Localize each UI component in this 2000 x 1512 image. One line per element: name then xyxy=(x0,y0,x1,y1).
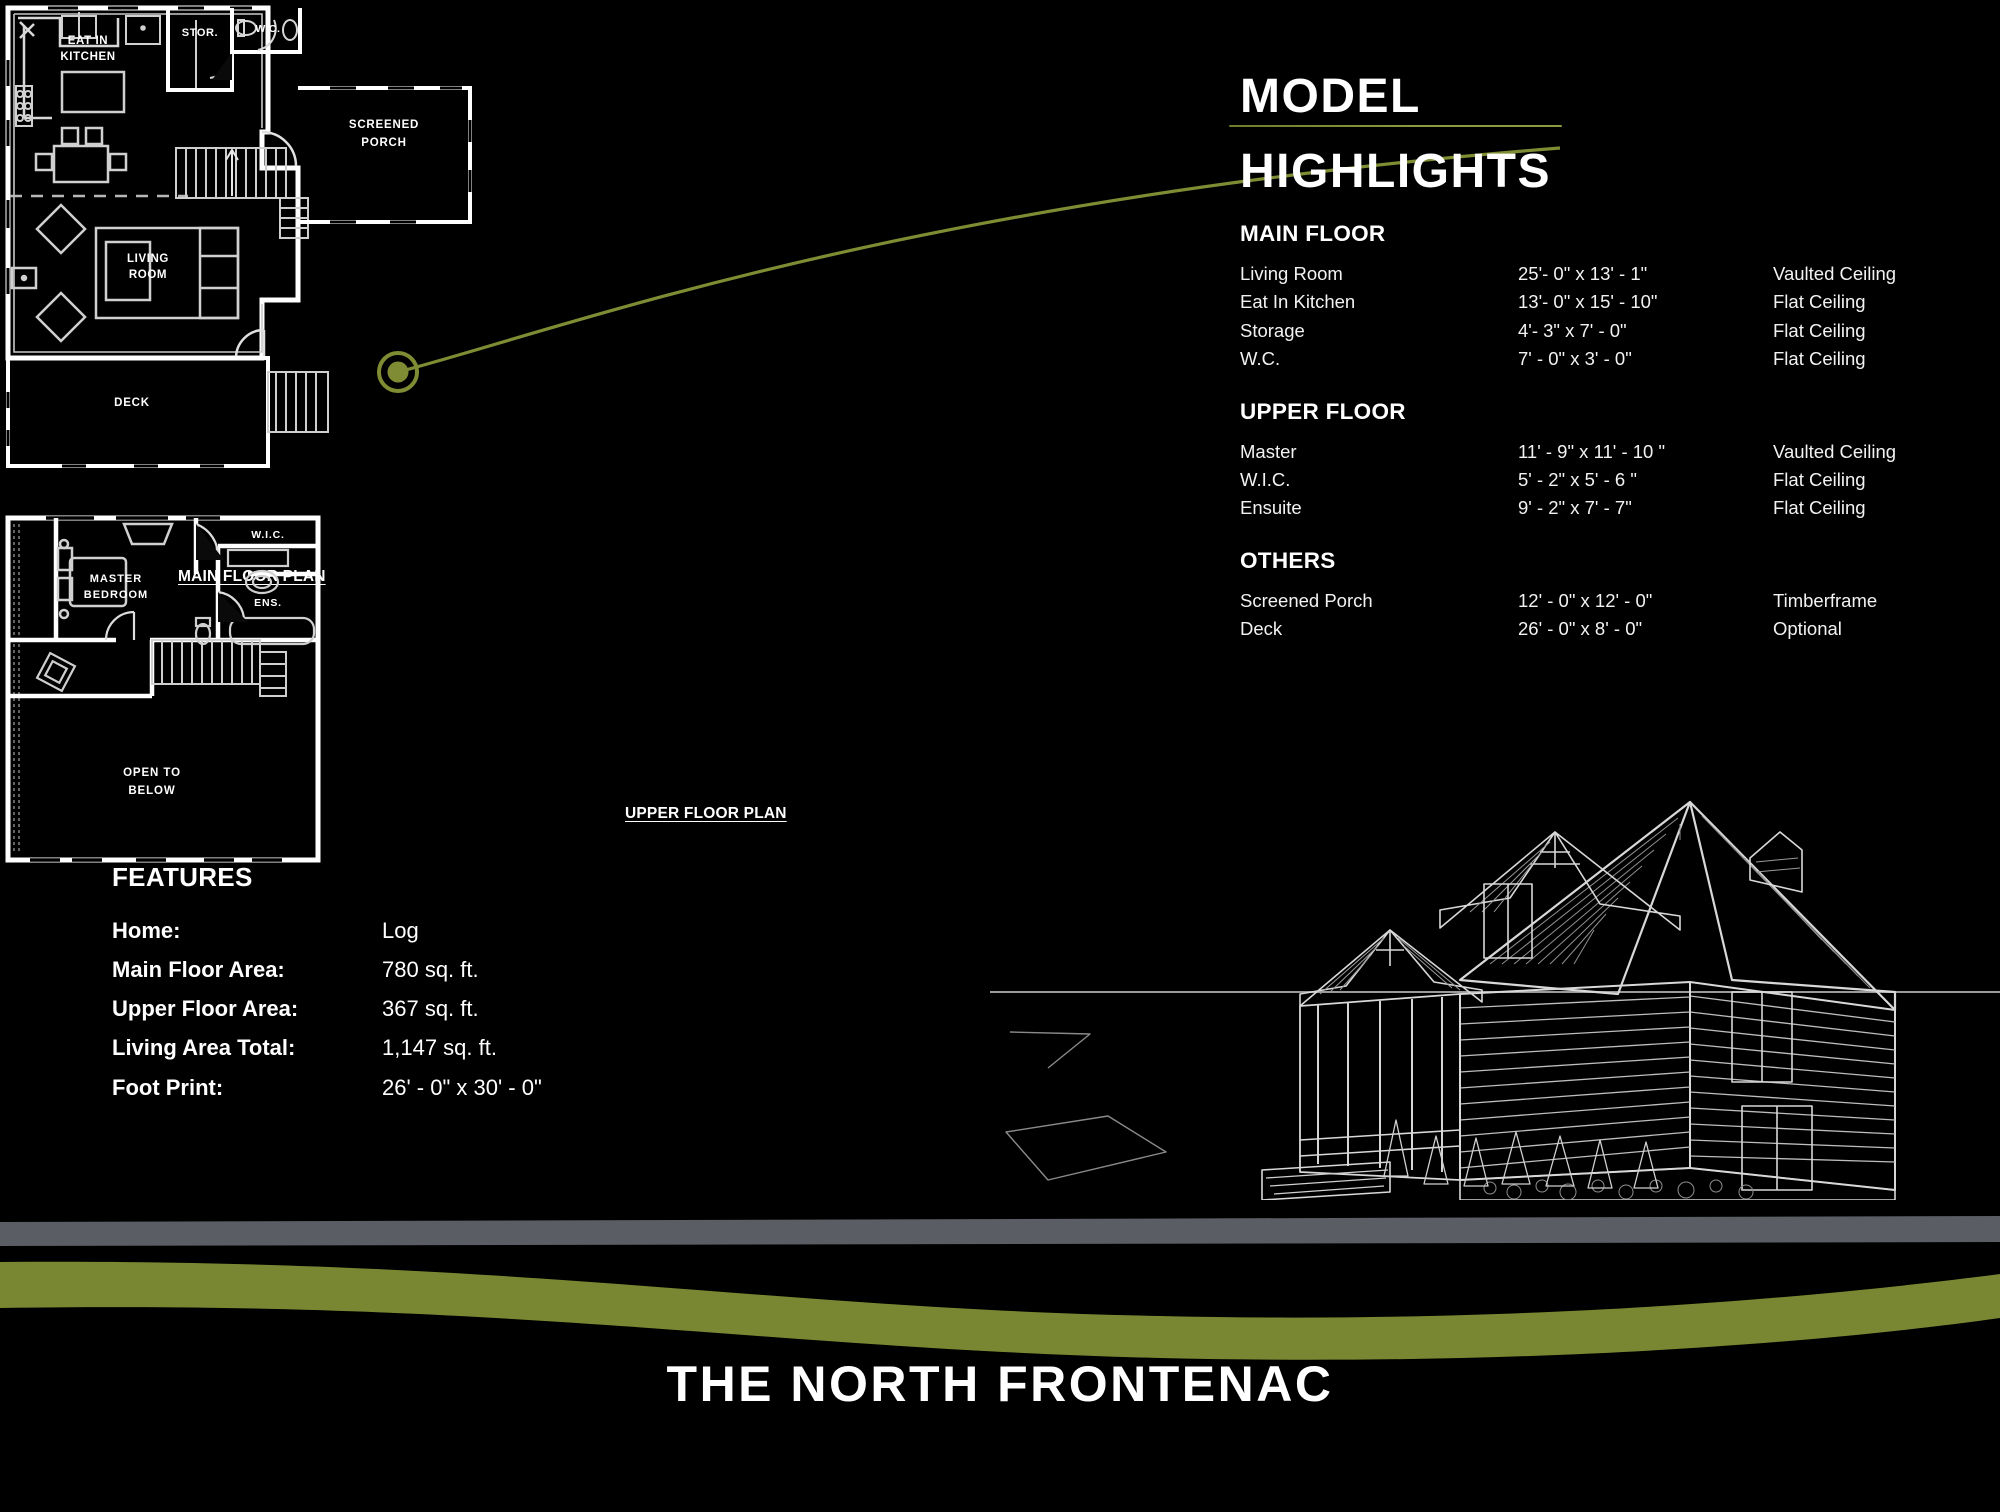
features-panel: FEATURES Home: Log Main Floor Area: 780 … xyxy=(112,862,732,1107)
room-note: Flat Ceiling xyxy=(1773,494,1980,522)
room-dimensions: 26' - 0" x 8' - 0" xyxy=(1518,615,1773,643)
list-item: Living Area Total: 1,147 sq. ft. xyxy=(112,1028,732,1067)
room-name: Master xyxy=(1240,438,1518,466)
green-swoosh-band xyxy=(0,1262,2000,1360)
house-rendering-illustration xyxy=(990,780,2000,1200)
label-storage: STOR. xyxy=(182,27,218,39)
room-name: W.I.C. xyxy=(1240,466,1518,494)
section-title-others: OTHERS xyxy=(1240,548,1980,574)
room-note: Flat Ceiling xyxy=(1773,345,1980,373)
label-deck: DECK xyxy=(114,397,150,409)
highlights-section-upper-floor: UPPER FLOOR Master 11' - 9" x 11' - 10 "… xyxy=(1240,399,1980,522)
room-note: Flat Ceiling xyxy=(1773,466,1980,494)
label-open-to-below-2: BELOW xyxy=(128,785,175,797)
page-title: THE NORTH FRONTENAC xyxy=(0,1355,2000,1413)
features-title: FEATURES xyxy=(112,862,732,893)
label-screened-porch-2: PORCH xyxy=(361,137,407,149)
table-row: Master 11' - 9" x 11' - 10 " Vaulted Cei… xyxy=(1240,438,1980,466)
label-master-2: BEDROOM xyxy=(84,589,148,601)
feature-value: 780 sq. ft. xyxy=(382,950,732,989)
feature-value: Log xyxy=(382,911,732,950)
feature-label: Foot Print: xyxy=(112,1068,382,1107)
feature-label: Home: xyxy=(112,911,382,950)
main-floor-plan-drawing: EAT IN KITCHEN STOR. W.C. SCREENED PORCH… xyxy=(0,0,500,510)
room-name: Ensuite xyxy=(1240,494,1518,522)
label-wic: W.I.C. xyxy=(251,529,284,541)
feature-value: 26' - 0" x 30' - 0" xyxy=(382,1068,732,1107)
label-wc: W.C. xyxy=(255,23,280,35)
label-eat-in-kitchen-1: EAT IN xyxy=(68,35,108,47)
list-item: Foot Print: 26' - 0" x 30' - 0" xyxy=(112,1068,732,1107)
list-item: Main Floor Area: 780 sq. ft. xyxy=(112,950,732,989)
upper-floor-plan: MASTER BEDROOM W.I.C. ENS. OPEN TO BELOW xyxy=(0,510,350,920)
footer-decorative-bands xyxy=(0,1196,2000,1376)
room-name: Storage xyxy=(1240,317,1518,345)
room-dimensions: 5' - 2" x 5' - 6 " xyxy=(1518,466,1773,494)
room-dimensions: 25'- 0" x 13' - 1" xyxy=(1518,260,1773,288)
upper-floor-plan-drawing: MASTER BEDROOM W.I.C. ENS. OPEN TO BELOW xyxy=(0,510,350,920)
label-open-to-below-1: OPEN TO xyxy=(123,767,181,779)
room-name: Deck xyxy=(1240,615,1518,643)
room-note: Timberframe xyxy=(1773,587,1980,615)
label-eat-in-kitchen-2: KITCHEN xyxy=(60,51,115,63)
section-title-main-floor: MAIN FLOOR xyxy=(1240,221,1980,247)
room-dimensions: 11' - 9" x 11' - 10 " xyxy=(1518,438,1773,466)
upper-floor-plan-caption: UPPER FLOOR PLAN xyxy=(625,805,787,823)
room-dimensions: 4'- 3" x 7' - 0" xyxy=(1518,317,1773,345)
feature-label: Main Floor Area: xyxy=(112,950,382,989)
model-highlights-title-line1: MODEL xyxy=(1240,72,1980,122)
label-master-1: MASTER xyxy=(90,573,142,585)
room-note: Vaulted Ceiling xyxy=(1773,260,1980,288)
room-note: Flat Ceiling xyxy=(1773,288,1980,316)
room-name: Screened Porch xyxy=(1240,587,1518,615)
label-living-room-1: LIVING xyxy=(127,253,169,265)
model-highlights-title-line2: HIGHLIGHTS xyxy=(1240,147,1980,197)
gray-band xyxy=(0,1216,2000,1246)
list-item: Home: Log xyxy=(112,911,732,950)
table-row: W.I.C. 5' - 2" x 5' - 6 " Flat Ceiling xyxy=(1240,466,1980,494)
room-note: Vaulted Ceiling xyxy=(1773,438,1980,466)
highlights-section-others: OTHERS Screened Porch 12' - 0" x 12' - 0… xyxy=(1240,548,1980,643)
room-note: Flat Ceiling xyxy=(1773,317,1980,345)
room-name: Living Room xyxy=(1240,260,1518,288)
room-dimensions: 7' - 0" x 3' - 0" xyxy=(1518,345,1773,373)
feature-value: 367 sq. ft. xyxy=(382,989,732,1028)
table-row: Storage 4'- 3" x 7' - 0" Flat Ceiling xyxy=(1240,317,1980,345)
main-floor-plan: EAT IN KITCHEN STOR. W.C. SCREENED PORCH… xyxy=(0,0,500,510)
room-dimensions: 9' - 2" x 7' - 7" xyxy=(1518,494,1773,522)
table-row: Deck 26' - 0" x 8' - 0" Optional xyxy=(1240,615,1980,643)
table-row: W.C. 7' - 0" x 3' - 0" Flat Ceiling xyxy=(1240,345,1980,373)
brochure-page: EAT IN KITCHEN STOR. W.C. SCREENED PORCH… xyxy=(0,0,2000,1512)
table-row: Screened Porch 12' - 0" x 12' - 0" Timbe… xyxy=(1240,587,1980,615)
room-dimensions: 13'- 0" x 15' - 10" xyxy=(1518,288,1773,316)
label-living-room-2: ROOM xyxy=(129,269,167,281)
feature-label: Living Area Total: xyxy=(112,1028,382,1067)
feature-label: Upper Floor Area: xyxy=(112,989,382,1028)
label-screened-porch-1: SCREENED xyxy=(349,119,419,131)
highlights-section-main-floor: MAIN FLOOR Living Room 25'- 0" x 13' - 1… xyxy=(1240,221,1980,372)
table-row: Eat In Kitchen 13'- 0" x 15' - 10" Flat … xyxy=(1240,288,1980,316)
table-row: Ensuite 9' - 2" x 7' - 7" Flat Ceiling xyxy=(1240,494,1980,522)
list-item: Upper Floor Area: 367 sq. ft. xyxy=(112,989,732,1028)
table-row: Living Room 25'- 0" x 13' - 1" Vaulted C… xyxy=(1240,260,1980,288)
model-highlights-panel: MODEL HIGHLIGHTS MAIN FLOOR Living Room … xyxy=(1240,72,1980,643)
section-title-upper-floor: UPPER FLOOR xyxy=(1240,399,1980,425)
room-name: W.C. xyxy=(1240,345,1518,373)
room-dimensions: 12' - 0" x 12' - 0" xyxy=(1518,587,1773,615)
feature-value: 1,147 sq. ft. xyxy=(382,1028,732,1067)
room-name: Eat In Kitchen xyxy=(1240,288,1518,316)
title-accent-rule xyxy=(1229,125,1562,128)
label-ensuite: ENS. xyxy=(254,597,282,609)
room-note: Optional xyxy=(1773,615,1980,643)
